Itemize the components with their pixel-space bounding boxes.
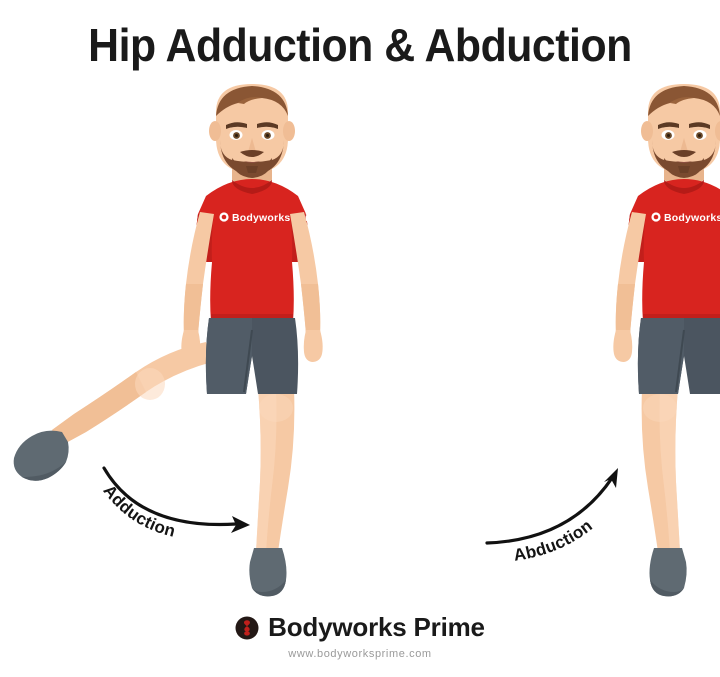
illustration-canvas: Bodyworks Prime — [0, 0, 720, 677]
abduction-label: Abduction — [512, 516, 596, 565]
right-figure-abduction — [613, 84, 720, 596]
adduction-label: Adduction — [100, 481, 178, 541]
right-figure-standing-leg — [642, 388, 687, 596]
footer-brand-name: Bodyworks Prime — [268, 612, 485, 643]
footer-url: www.bodyworksprime.com — [0, 648, 720, 660]
left-figure-raised-leg — [14, 342, 212, 481]
bodyworks-prime-logo-icon — [235, 616, 259, 640]
left-figure-standing-leg — [249, 388, 294, 596]
footer-brand: Bodyworks Prime — [0, 612, 720, 643]
abduction-annotation: Abduction — [487, 468, 624, 565]
adduction-annotation: Adduction — [96, 468, 250, 541]
